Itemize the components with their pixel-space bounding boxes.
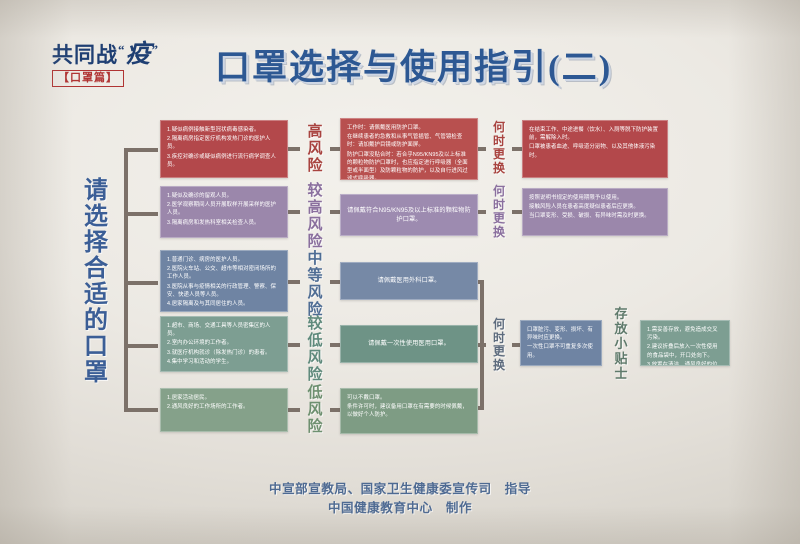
population-line: 3.就医疗机构就诊（除发热门诊）的患者。 bbox=[167, 349, 281, 357]
when-label-char: 更 bbox=[486, 345, 512, 359]
when-label-char: 更 bbox=[486, 148, 512, 162]
population-line: 4.集中学习和活动的学生。 bbox=[167, 358, 281, 366]
connector-risk-to-mask-lower bbox=[330, 343, 340, 347]
connector-risk-to-mask-higher bbox=[330, 210, 340, 214]
population-line: 2.医学观察期间人员开展取样开展采样的医护人员。 bbox=[167, 201, 281, 217]
risk-label-char: 险 bbox=[300, 234, 330, 251]
population-line: 1.疑似及确诊的留观人员。 bbox=[167, 192, 281, 200]
replace-box-shared: 口罩脏污、变形、损坏、有异味时应更换。 一次性口罩不可重复多次使用。 bbox=[520, 320, 602, 366]
risk-label-char: 险 bbox=[300, 367, 330, 384]
risk-label-char: 高 bbox=[300, 124, 330, 141]
brand-title-prefix: 共同战 bbox=[52, 43, 118, 67]
when-label-char: 更 bbox=[486, 212, 512, 226]
replace-line: 当口罩变形、受损、破损、有异味时需及时更换。 bbox=[529, 212, 661, 220]
population-line: 2.室内办公环境的工作者。 bbox=[167, 339, 281, 347]
population-line: 2.通风良好的工作场所的工作者。 bbox=[167, 403, 281, 411]
replace-line: 口罩被患者血迹、呼吸道分泌物、以及其他体液污染时。 bbox=[529, 143, 661, 159]
spine-branch-higher bbox=[124, 212, 158, 216]
risk-label-char: 险 bbox=[300, 158, 330, 175]
left-label-char: 择 bbox=[76, 230, 116, 256]
connector-when-to-replace-high bbox=[512, 147, 522, 151]
risk-label-char: 风 bbox=[300, 217, 330, 234]
spine-branch-low bbox=[124, 408, 158, 412]
storage-label-char: 士 bbox=[608, 366, 634, 381]
infographic-poster: 共同战“疫” 【口罩篇】 口罩选择与使用指引(二) 请 选 择 合 适 的 口 … bbox=[0, 0, 800, 544]
brand-title: 共同战“疫” bbox=[52, 38, 202, 67]
when-label-char: 换 bbox=[486, 359, 512, 373]
storage-tip-line: 2.建议折叠后放入一次性使用的食品袋中，开口处向下。 bbox=[647, 343, 723, 359]
mask-box-higher: 请佩戴符合N95/KN95及以上标准的颗粒物防护口罩。 bbox=[340, 194, 478, 236]
risk-label-char: 较 bbox=[300, 183, 330, 200]
risk-label-char: 风 bbox=[300, 350, 330, 367]
replace-line: 接触风险人员在患者高度疑似患者后应更换。 bbox=[529, 203, 661, 211]
mask-box-medium: 请佩戴医用外科口罩。 bbox=[340, 262, 478, 300]
replace-line: 按照说明书规定的使用期限予以使用。 bbox=[529, 194, 661, 202]
footer-line-1: 中宣部宣教局、国家卫生健康委宣传司 指导 bbox=[0, 480, 800, 499]
risk-label-char: 较 bbox=[300, 316, 330, 333]
population-box-high: 1.疑似病例接触新型冠状病毒感染者。 2.隔离病房指定医疗机构发热门诊的医护人员… bbox=[160, 120, 288, 178]
storage-label-char: 存 bbox=[608, 306, 634, 321]
replace-line: 口罩脏污、变形、损坏、有异味时应更换。 bbox=[527, 326, 595, 342]
connector-mask-to-when-higher bbox=[478, 210, 486, 214]
connector-lower-to-risk bbox=[288, 343, 300, 347]
mask-line: 防护口罩没贴合时：若合乎N95/KN95及以上标准的颗粒物防护口罩时，也应指定进… bbox=[347, 151, 471, 180]
connector-high-to-risk bbox=[288, 147, 300, 151]
brand-quote-open: “ bbox=[118, 42, 126, 57]
when-label-char: 换 bbox=[486, 226, 512, 240]
page-title: 口罩选择与使用指引(二) bbox=[215, 42, 635, 94]
when-replace-label-high: 何 时 更 换 bbox=[486, 121, 512, 175]
connector-medium-to-risk bbox=[288, 280, 300, 284]
mask-box-low: 可以不戴口罩。 条件许可时，建议备用口罩在有需要的时候佩戴，以做好个人防护。 bbox=[340, 388, 478, 434]
brand-title-yi: 疫 bbox=[126, 43, 152, 67]
when-label-char: 何 bbox=[486, 121, 512, 135]
when-label-char: 时 bbox=[486, 135, 512, 149]
storage-tips-label: 存 放 小 贴 士 bbox=[608, 306, 634, 381]
mask-box-lower: 请佩戴一次性使用医用口罩。 bbox=[340, 325, 478, 363]
left-label-char: 罩 bbox=[76, 360, 116, 386]
replace-box-high: 在结束工作、中途进餐（饮水）、入厕等脱下防护装置前，需解除入时。 口罩被患者血迹… bbox=[522, 120, 668, 178]
risk-label-char: 风 bbox=[300, 285, 330, 302]
storage-label-char: 放 bbox=[608, 321, 634, 336]
replace-box-higher: 按照说明书规定的使用期限予以使用。 接触风险人员在患者高度疑似患者后应更换。 当… bbox=[522, 188, 668, 236]
left-label-char: 适 bbox=[76, 282, 116, 308]
when-label-char: 何 bbox=[486, 318, 512, 332]
merge-stub-low bbox=[478, 406, 482, 410]
when-label-char: 换 bbox=[486, 162, 512, 176]
population-box-higher: 1.疑似及确诊的留观人员。 2.医学观察期间人员开展取样开展采样的医护人员。 3… bbox=[160, 186, 288, 238]
left-label-char: 的 bbox=[76, 308, 116, 334]
risk-label-char: 等 bbox=[300, 268, 330, 285]
connector-when-to-replace-higher bbox=[512, 210, 522, 214]
replace-line: 在结束工作、中途进餐（饮水）、入厕等脱下防护装置前，需解除入时。 bbox=[529, 126, 661, 142]
risk-label-char: 低 bbox=[300, 333, 330, 350]
spine-branch-high bbox=[124, 148, 158, 152]
risk-label-char: 低 bbox=[300, 385, 330, 402]
risk-label-char: 风 bbox=[300, 141, 330, 158]
risk-label-low: 低 风 险 bbox=[300, 385, 330, 436]
storage-label-char: 小 bbox=[608, 336, 634, 351]
spine-branch-medium bbox=[124, 281, 158, 285]
connector-risk-to-mask-high bbox=[330, 147, 340, 151]
when-replace-label-shared: 何 时 更 换 bbox=[486, 318, 512, 372]
population-box-low: 1.居家活动居民。 2.通风良好的工作场所的工作者。 bbox=[160, 388, 288, 432]
risk-label-higher: 较 高 风 险 bbox=[300, 183, 330, 251]
mask-line: 工作时：请佩戴医用防护口罩。 bbox=[347, 124, 471, 132]
footer-line-2: 中国健康教育中心 制作 bbox=[0, 499, 800, 518]
population-line: 2.隔离病房指定医疗机构发热门诊的医护人员。 bbox=[167, 135, 281, 151]
risk-label-char: 风 bbox=[300, 402, 330, 419]
replace-line: 一次性口罩不可重复多次使用。 bbox=[527, 343, 595, 359]
population-line: 4.居家隔离及与其同居住的人员。 bbox=[167, 300, 281, 308]
connector-mask-to-when-high bbox=[478, 147, 486, 151]
when-label-char: 何 bbox=[486, 185, 512, 199]
population-line: 3.疾控对确诊或疑似病例进行流行病学调查人员。 bbox=[167, 153, 281, 169]
when-replace-label-higher: 何 时 更 换 bbox=[486, 185, 512, 239]
population-box-lower: 1.超市、商场、交通工具等人员密集区的人员。 2.室内办公环境的工作者。 3.就… bbox=[160, 316, 288, 372]
mask-box-high: 工作时：请佩戴医用防护口罩。 在继续患者的急救和从事气管插管、气管镜检查时：请加… bbox=[340, 118, 478, 180]
connector-low-to-risk bbox=[288, 408, 300, 412]
storage-tip-line: 1.需妥善存放，避免造成交叉污染。 bbox=[647, 326, 723, 342]
risk-label-char: 险 bbox=[300, 419, 330, 436]
footer: 中宣部宣教局、国家卫生健康委宣传司 指导 中国健康教育中心 制作 bbox=[0, 480, 800, 518]
mask-line: 请佩戴一次性使用医用口罩。 bbox=[368, 339, 450, 348]
risk-label-char: 中 bbox=[300, 251, 330, 268]
merge-stub-medium bbox=[478, 280, 482, 284]
left-label-char: 选 bbox=[76, 204, 116, 230]
risk-label-lower: 较 低 风 险 bbox=[300, 316, 330, 384]
population-box-medium: 1.普通门诊、病房的医护人员。 2.医院火车站、公交、超市等相对密闭场所的工作人… bbox=[160, 250, 288, 312]
connector-higher-to-risk bbox=[288, 210, 300, 214]
population-line: 1.超市、商场、交通工具等人员密集区的人员。 bbox=[167, 322, 281, 338]
mask-line: 请佩戴符合N95/KN95及以上标准的颗粒物防护口罩。 bbox=[347, 206, 471, 224]
mask-line: 条件许可时，建议备用口罩在有需要的时候佩戴，以做好个人防护。 bbox=[347, 403, 471, 419]
storage-tip-line: 3.放置在清洁、通风良好的位置中。 bbox=[647, 361, 723, 366]
brand-logo: 共同战“疫” 【口罩篇】 bbox=[52, 38, 202, 90]
population-line: 3.医院从事与疫情相关的行政管理、警察、保安、快递人员等人员。 bbox=[167, 283, 281, 299]
brand-quote-close: ” bbox=[152, 42, 160, 57]
mask-line: 可以不戴口罩。 bbox=[347, 394, 471, 402]
left-vertical-label: 请 选 择 合 适 的 口 罩 bbox=[76, 178, 116, 386]
population-line: 2.医院火车站、公交、超市等相对密闭场所的工作人员。 bbox=[167, 265, 281, 281]
connector-when-to-replace-shared bbox=[512, 343, 520, 347]
connector-risk-to-mask-low bbox=[330, 408, 340, 412]
left-label-char: 口 bbox=[76, 334, 116, 360]
left-label-char: 合 bbox=[76, 256, 116, 282]
left-label-char: 请 bbox=[76, 178, 116, 204]
mask-line: 在继续患者的急救和从事气管插管、气管镜检查时：请加戴护目镜或防护面屏。 bbox=[347, 133, 471, 149]
population-line: 1.疑似病例接触新型冠状病毒感染者。 bbox=[167, 126, 281, 134]
population-line: 1.居家活动居民。 bbox=[167, 394, 281, 402]
connector-risk-to-mask-medium bbox=[330, 280, 340, 284]
risk-label-medium: 中 等 风 险 bbox=[300, 251, 330, 319]
brand-subtitle-tag: 【口罩篇】 bbox=[52, 70, 124, 87]
when-label-char: 时 bbox=[486, 332, 512, 346]
risk-label-char: 高 bbox=[300, 200, 330, 217]
storage-tips-box: 1.需妥善存放，避免造成交叉污染。 2.建议折叠后放入一次性使用的食品袋中，开口… bbox=[640, 320, 730, 366]
risk-label-high: 高 风 险 bbox=[300, 124, 330, 175]
population-line: 1.普通门诊、病房的医护人员。 bbox=[167, 256, 281, 264]
population-line: 3.隔离病房和发热科室相关检查人员。 bbox=[167, 219, 281, 227]
storage-label-char: 贴 bbox=[608, 351, 634, 366]
mask-line: 请佩戴医用外科口罩。 bbox=[378, 276, 441, 285]
spine-vertical-line bbox=[124, 148, 128, 410]
when-label-char: 时 bbox=[486, 199, 512, 213]
spine-branch-lower bbox=[124, 344, 158, 348]
